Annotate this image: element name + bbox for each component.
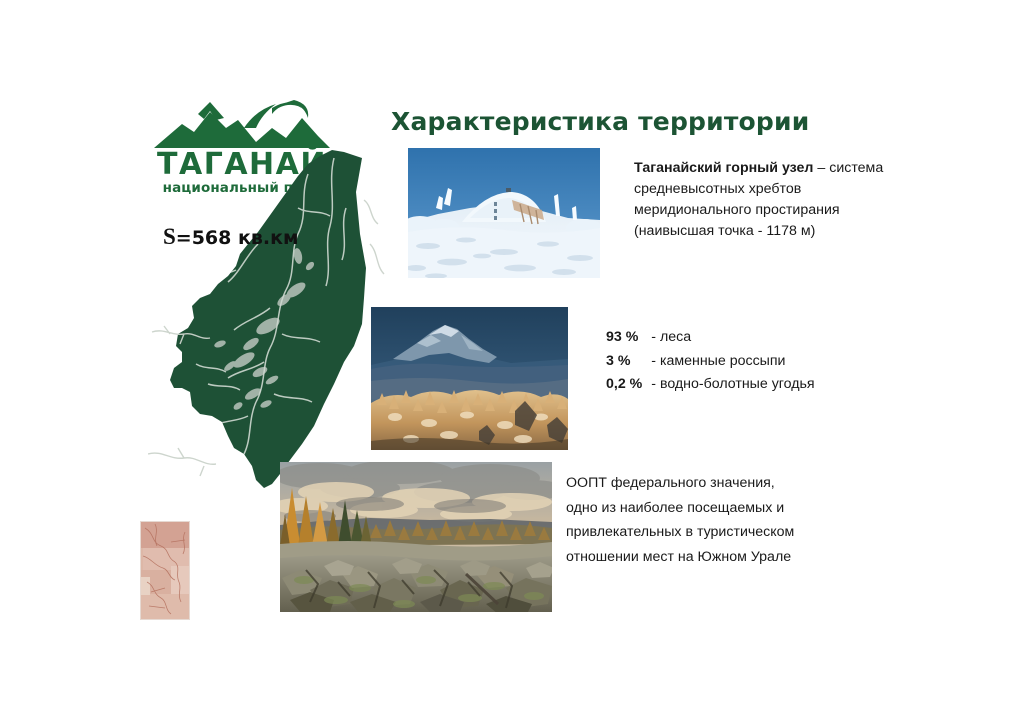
slide-canvas: ТАГАНАЙ национальный парк S=568 кв.км [0,0,1024,725]
photo-snow-covered-mountain-station [408,148,600,278]
stat-label-forests: - леса [651,326,814,350]
photo-mountain-peak-frosted-forest [371,307,568,450]
protected-line-3: привлекательных в туристическом [566,520,876,545]
massif-description-block: Таганайский горный узел – система средне… [634,158,902,242]
taganay-park-map [148,148,388,498]
area-symbol: S [163,224,176,249]
table-row: 93 % - леса [606,326,815,350]
stat-label-rock-placers: - каменные россыпи [651,350,814,374]
protected-line-4: отношении мест на Южном Урале [566,545,876,570]
geology-map-thumbnail [140,521,190,620]
area-value: =568 кв.км [176,227,299,249]
page-title: Характеристика территории [391,107,809,136]
mountains-crescent-icon [152,98,332,154]
stat-percent-rock-placers: 3 % [606,350,651,374]
stat-label-wetlands: - водно-болотные угодья [651,373,814,397]
massif-dash: – [813,160,829,176]
land-cover-stats-block: 93 % - леса 3 % - каменные россыпи 0,2 %… [606,326,815,397]
table-row: 3 % - каменные россыпи [606,350,815,374]
park-area-caption: S=568 кв.км [163,224,299,250]
table-row: 0,2 % - водно-болотные угодья [606,373,815,397]
stat-percent-wetlands: 0,2 % [606,373,651,397]
protected-line-2: одно из наиболее посещаемых и [566,496,876,521]
stat-percent-forests: 93 % [606,326,651,350]
protected-line-1: ООПТ федерального значения, [566,471,876,496]
photo-stone-river-kurum [280,462,552,612]
protected-status-block: ООПТ федерального значения, одно из наиб… [566,471,876,569]
massif-highest-point-note: (наивысшая точка - 1178 м) [634,223,815,239]
massif-lead: Таганайский горный узел [634,160,813,176]
